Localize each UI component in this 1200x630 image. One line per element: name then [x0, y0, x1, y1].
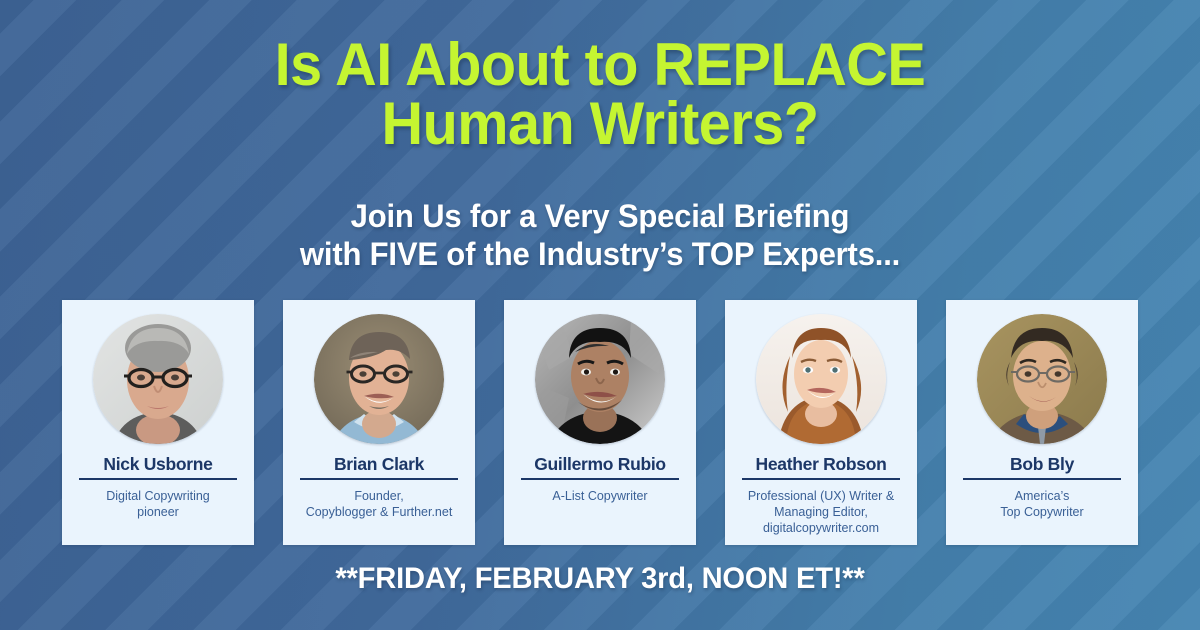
name-underline — [79, 478, 237, 480]
speaker-title-line-2: pioneer — [106, 504, 210, 520]
speaker-card: Brian Clark Founder, Copyblogger & Furth… — [283, 300, 475, 545]
speaker-name-block: Nick Usborne — [79, 455, 237, 480]
speaker-name-block: Guillermo Rubio — [521, 455, 679, 480]
subheadline: Join Us for a Very Special Briefing with… — [0, 198, 1200, 274]
speaker-name: Bob Bly — [963, 455, 1121, 474]
avatar — [93, 314, 223, 444]
speaker-card: Nick Usborne Digital Copywriting pioneer — [62, 300, 254, 545]
speaker-title: Founder, Copyblogger & Further.net — [302, 488, 457, 520]
name-underline — [963, 478, 1121, 480]
name-underline — [742, 478, 900, 480]
avatar — [314, 314, 444, 444]
name-underline — [521, 478, 679, 480]
avatar — [535, 314, 665, 444]
event-datetime-text: **FRIDAY, FEBRUARY 3rd, NOON ET!** — [18, 562, 1182, 596]
speaker-card: Bob Bly America’s Top Copywriter — [946, 300, 1138, 545]
event-datetime-banner: **FRIDAY, FEBRUARY 3rd, NOON ET!** — [0, 562, 1200, 596]
avatar — [977, 314, 1107, 444]
speaker-title: America’s Top Copywriter — [996, 488, 1087, 520]
speaker-title-line-2: Managing Editor, — [748, 504, 894, 520]
speaker-title-line-2: Copyblogger & Further.net — [306, 504, 453, 520]
subheadline-line-1: Join Us for a Very Special Briefing — [351, 198, 850, 234]
speaker-title-line-1: A-List Copywriter — [552, 488, 647, 504]
speaker-name: Brian Clark — [300, 455, 458, 474]
speaker-title-line-1: America’s — [1000, 488, 1083, 504]
speaker-card: Guillermo Rubio A-List Copywriter — [504, 300, 696, 545]
speaker-title-line-1: Digital Copywriting — [106, 488, 210, 504]
headline-text: Is AI About to REPLACE Human Writers? — [24, 36, 1176, 154]
headline-line-2: Human Writers? — [24, 95, 1176, 154]
promo-poster: Is AI About to REPLACE Human Writers? Jo… — [0, 0, 1200, 630]
name-underline — [300, 478, 458, 480]
speaker-title-line-1: Founder, — [306, 488, 453, 504]
speaker-name: Heather Robson — [742, 455, 900, 474]
speaker-card: Heather Robson Professional (UX) Writer … — [725, 300, 917, 545]
speaker-title-line-2: Top Copywriter — [1000, 504, 1083, 520]
speaker-title-line-3: digitalcopywriter.com — [748, 520, 894, 536]
speaker-name: Guillermo Rubio — [521, 455, 679, 474]
speaker-name: Nick Usborne — [79, 455, 237, 474]
speaker-name-block: Bob Bly — [963, 455, 1121, 480]
speaker-title: Digital Copywriting pioneer — [102, 488, 214, 520]
speaker-name-block: Brian Clark — [300, 455, 458, 480]
speaker-title: Professional (UX) Writer & Managing Edit… — [744, 488, 898, 536]
headline-line-1: Is AI About to REPLACE — [275, 31, 926, 98]
speaker-title-line-1: Professional (UX) Writer & — [748, 488, 894, 504]
speaker-title: A-List Copywriter — [548, 488, 651, 504]
subheadline-text: Join Us for a Very Special Briefing with… — [18, 198, 1182, 274]
speaker-card-list: Nick Usborne Digital Copywriting pioneer — [62, 300, 1138, 545]
speaker-name-block: Heather Robson — [742, 455, 900, 480]
subheadline-line-2: with FIVE of the Industry’s TOP Experts.… — [18, 236, 1182, 274]
headline: Is AI About to REPLACE Human Writers? — [0, 36, 1200, 154]
avatar — [756, 314, 886, 444]
